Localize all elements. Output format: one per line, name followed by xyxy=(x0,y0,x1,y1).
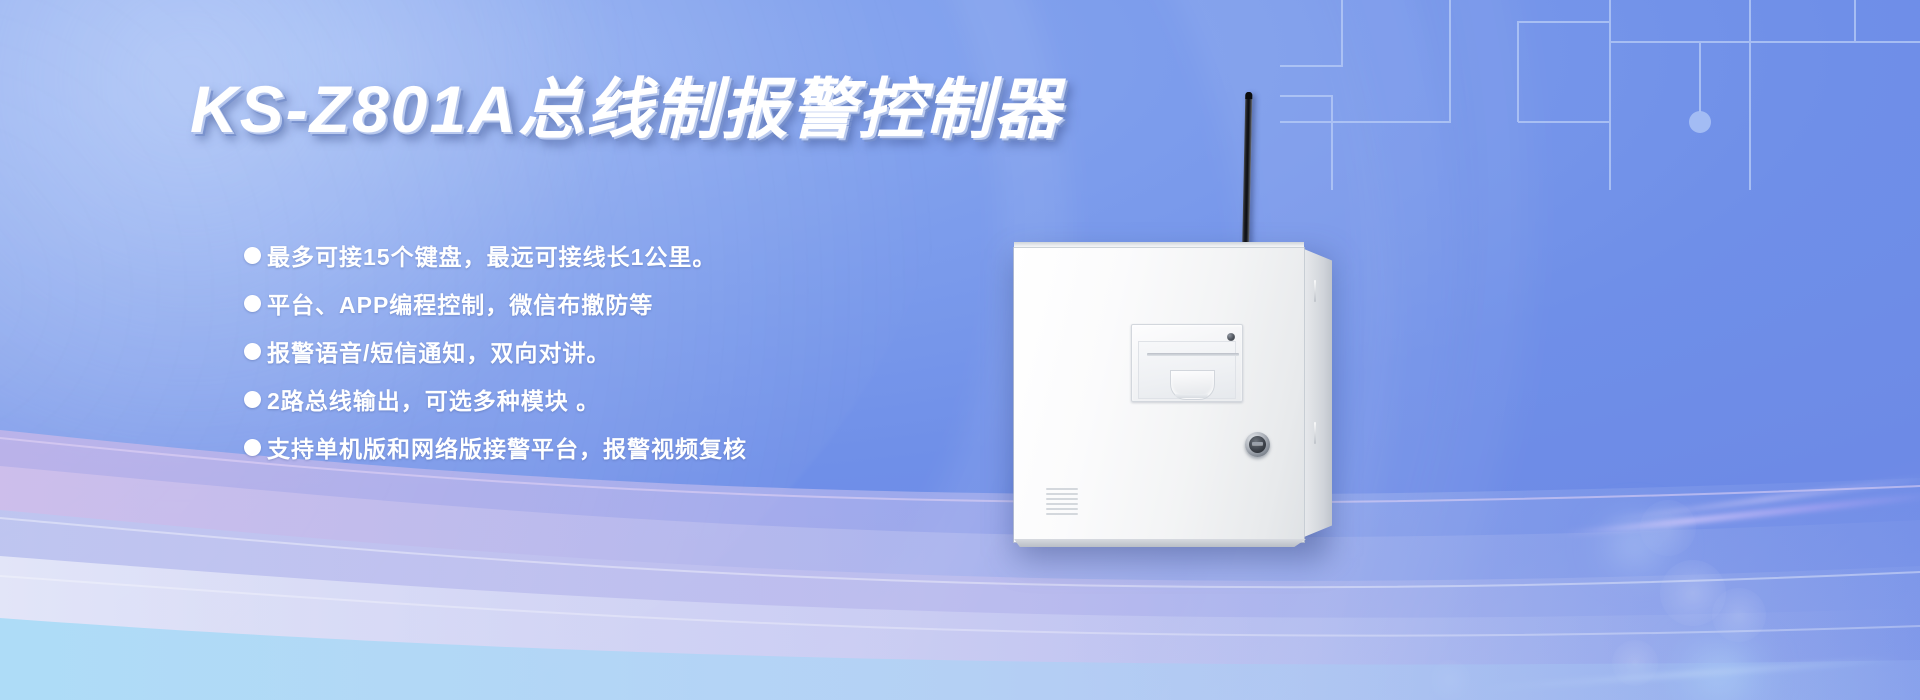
feature-text: 支持单机版和网络版接警平台，报警视频复核 xyxy=(267,430,747,464)
cabinet-bottom-edge xyxy=(1014,539,1306,547)
alarm-control-panel-image xyxy=(1008,92,1338,562)
bullet-icon xyxy=(244,295,261,312)
feature-text: 平台、APP编程控制，微信布撤防等 xyxy=(267,286,653,320)
list-item: 报警语音/短信通知，双向对讲。 xyxy=(244,334,747,368)
bokeh-circle xyxy=(1640,500,1696,556)
light-glow xyxy=(1660,640,1780,700)
feature-text: 最多可接15个键盘，最远可接线长1公里。 xyxy=(267,238,716,272)
feature-list: 最多可接15个键盘，最远可接线长1公里。 平台、APP编程控制，微信布撤防等 报… xyxy=(244,238,747,464)
light-streak xyxy=(1480,657,1899,690)
page-title: KS-Z801A总线制报警控制器 xyxy=(190,76,1062,142)
ventilation-slots xyxy=(1046,488,1078,516)
recessed-keypad-window xyxy=(1131,324,1243,402)
feature-text: 2路总线输出，可选多种模块 。 xyxy=(267,382,600,416)
list-item: 平台、APP编程控制，微信布撤防等 xyxy=(244,286,747,320)
key-lock-slot xyxy=(1252,442,1263,445)
door-handle-lip xyxy=(1175,394,1208,398)
bokeh-circle xyxy=(1430,660,1470,700)
hinge-mark xyxy=(1314,280,1316,302)
hinge-mark xyxy=(1314,422,1316,444)
bokeh-circle xyxy=(1660,560,1726,626)
paper-slot xyxy=(1147,353,1239,356)
bullet-icon xyxy=(244,343,261,360)
bokeh-circle xyxy=(1612,640,1658,686)
list-item: 支持单机版和网络版接警平台，报警视频复核 xyxy=(244,430,747,464)
bokeh-circle xyxy=(1712,588,1766,642)
light-streak xyxy=(1561,492,1920,537)
bullet-icon xyxy=(244,439,261,456)
antenna-icon xyxy=(1242,92,1252,254)
feature-text: 报警语音/短信通知，双向对讲。 xyxy=(267,334,610,368)
cabinet-side-face xyxy=(1304,249,1332,537)
product-banner: KS-Z801A总线制报警控制器 最多可接15个键盘，最远可接线长1公里。 平台… xyxy=(0,0,1920,700)
light-glow xyxy=(1590,520,1680,570)
bullet-icon xyxy=(244,391,261,408)
status-led-icon xyxy=(1227,333,1235,341)
circuit-node-dot xyxy=(1689,111,1711,133)
light-streak xyxy=(1601,476,1920,522)
bullet-icon xyxy=(244,247,261,264)
list-item: 最多可接15个键盘，最远可接线长1公里。 xyxy=(244,238,747,272)
list-item: 2路总线输出，可选多种模块 。 xyxy=(244,382,747,416)
keypad-window-inner xyxy=(1138,341,1236,399)
